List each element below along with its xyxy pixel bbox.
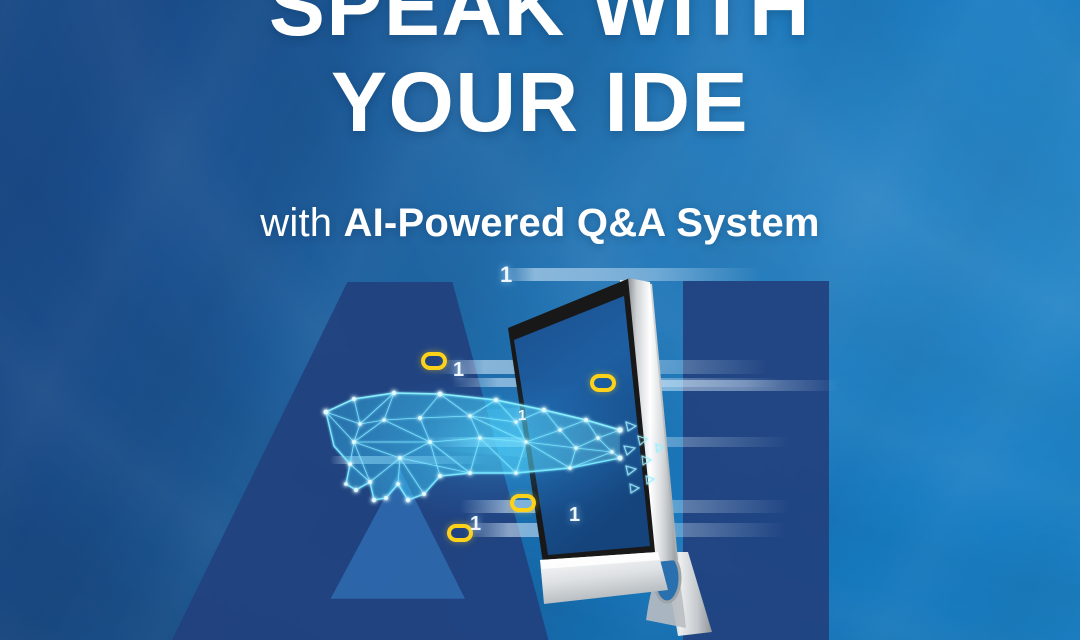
zero-upper-left bbox=[421, 352, 447, 370]
one-midhand: 1 bbox=[518, 408, 526, 423]
one-lower-right: 1 bbox=[569, 505, 580, 525]
poster-canvas: SPEAK WITH YOUR IDE with AI-Powered Q&A … bbox=[0, 0, 1080, 640]
subheadline: with AI-Powered Q&A System bbox=[0, 198, 1080, 248]
hand-mesh bbox=[324, 391, 663, 502]
wireframe-pointing-hand bbox=[320, 372, 680, 522]
zero-lower-right bbox=[510, 494, 536, 512]
zero-on-screen bbox=[590, 374, 616, 392]
subheadline-prefix: with bbox=[260, 201, 343, 245]
headline-line-1: SPEAK WITH bbox=[0, 0, 1080, 54]
headline-line-2: YOUR IDE bbox=[0, 54, 1080, 150]
one-top: 1 bbox=[500, 264, 512, 286]
one-upper-left: 1 bbox=[453, 360, 464, 380]
hand-dispersing-triangles bbox=[624, 422, 663, 493]
one-lower-left: 1 bbox=[470, 514, 481, 534]
subheadline-emphasis: AI-Powered Q&A System bbox=[344, 201, 820, 245]
headline-block: SPEAK WITH YOUR IDE bbox=[0, 0, 1080, 150]
